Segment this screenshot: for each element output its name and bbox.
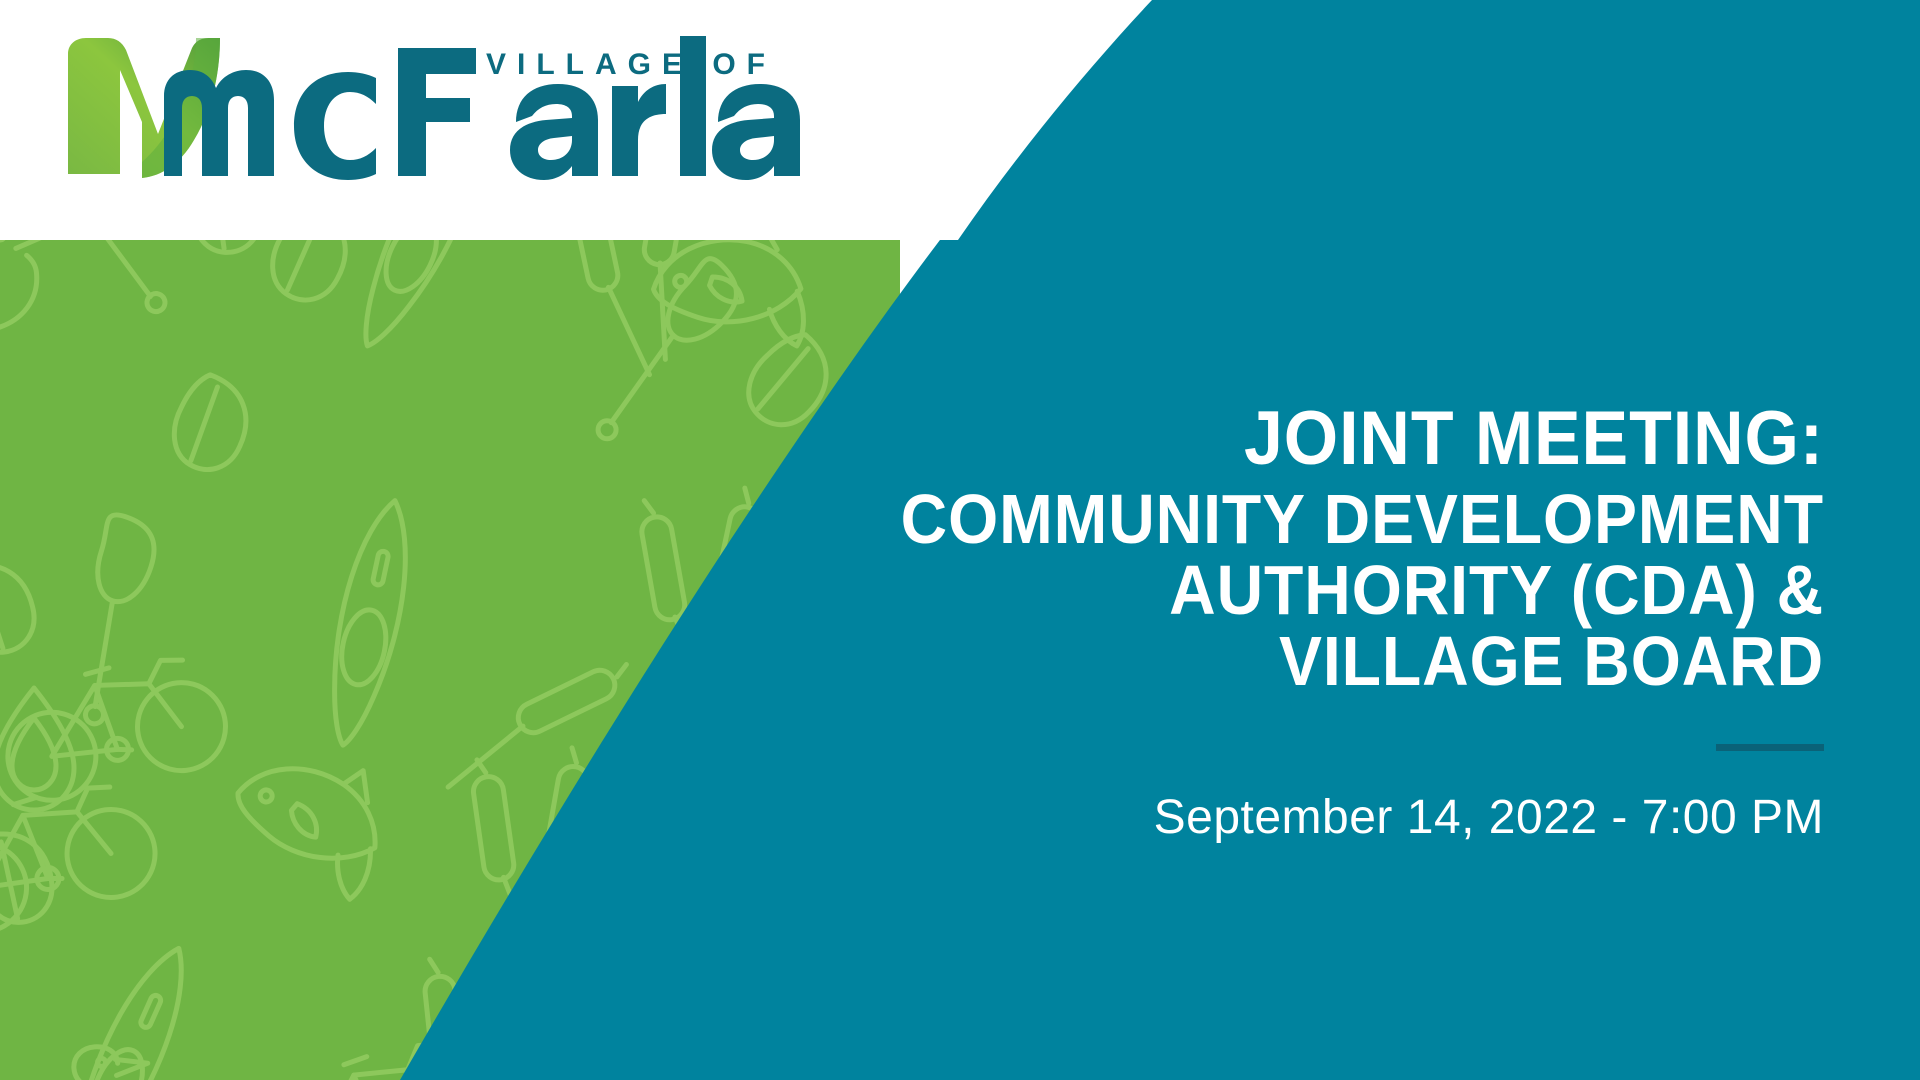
meeting-title-line-1: JOINT MEETING: [867, 400, 1824, 478]
meeting-announcement-banner: VILLAGE OF JOINT MEETING: COMMUNITY DEVE… [0, 0, 1920, 1080]
village-logo: VILLAGE OF [46, 26, 806, 186]
nature-icon-pattern [0, 238, 900, 1080]
meeting-title-line-3: AUTHORITY (CDA) & [867, 555, 1824, 626]
meeting-info-block: JOINT MEETING: COMMUNITY DEVELOPMENT AUT… [784, 400, 1824, 845]
meeting-datetime: September 14, 2022 - 7:00 PM [784, 790, 1824, 845]
meeting-title-line-2: COMMUNITY DEVELOPMENT [867, 484, 1824, 555]
meeting-title-line-4: VILLAGE BOARD [867, 626, 1824, 697]
title-divider-rule [1716, 744, 1824, 751]
green-pattern-panel [0, 238, 900, 1080]
logo-eyebrow-text: VILLAGE OF [486, 48, 776, 82]
